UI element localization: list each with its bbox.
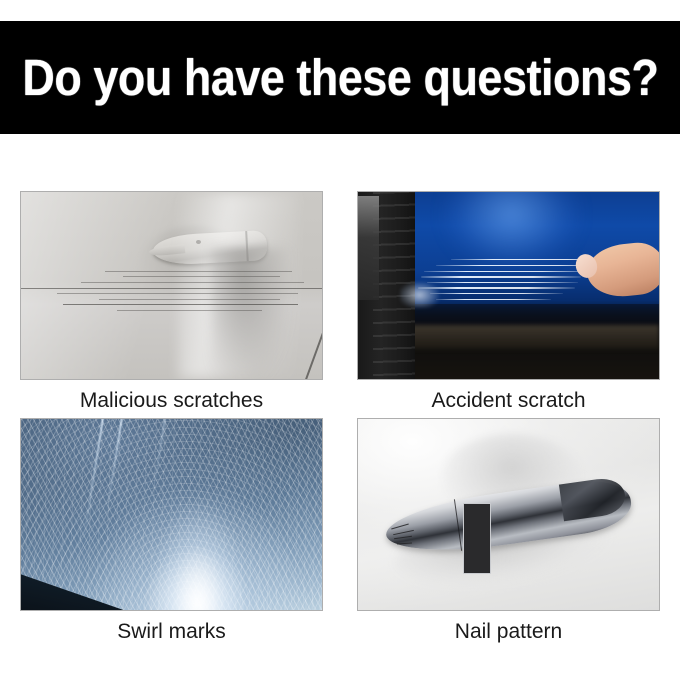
scratch-line — [117, 310, 261, 311]
card-caption: Swirl marks — [20, 620, 323, 643]
scratch-streak — [427, 282, 578, 283]
card-caption: Accident scratch — [357, 389, 660, 412]
body-crease-line — [21, 288, 322, 289]
problem-image-grid: Malicious scratches Accident scratch — [0, 176, 680, 676]
card-caption: Malicious scratches — [20, 389, 323, 412]
card-accident-scratch[interactable]: Accident scratch — [357, 191, 660, 412]
scratch-streak — [421, 276, 581, 278]
scuff-mark — [400, 282, 439, 308]
nail-pattern-photo — [357, 418, 660, 611]
scratch-line — [81, 282, 304, 283]
scratch-line — [105, 271, 292, 272]
card-nail-pattern[interactable]: Nail pattern — [357, 418, 660, 643]
sun-glare — [147, 492, 249, 611]
swirl-marks-photo — [20, 418, 323, 611]
handle-dark-reflection — [559, 475, 628, 521]
card-caption: Nail pattern — [357, 620, 660, 643]
accident-scratch-photo — [357, 191, 660, 380]
scratch-streak — [430, 293, 562, 294]
scratch-streak — [418, 287, 575, 289]
scratch-line — [63, 304, 298, 305]
rocker-panel — [400, 325, 659, 349]
scratch-line — [99, 299, 280, 300]
handle-keyhole — [463, 503, 491, 574]
wheel-rim — [358, 196, 379, 301]
scratch-streak — [436, 299, 550, 300]
handle-seam — [454, 499, 463, 550]
scratch-streak — [424, 271, 593, 272]
header-banner: Do you have these questions? — [0, 21, 680, 134]
panel-shadow — [211, 248, 289, 379]
scratch-line — [123, 276, 280, 277]
page-title: Do you have these questions? — [22, 52, 658, 103]
card-swirl-marks[interactable]: Swirl marks — [20, 418, 323, 643]
scratch-line — [57, 293, 298, 294]
malicious-scratches-photo — [20, 191, 323, 380]
body-diagonal-line — [299, 285, 323, 380]
card-malicious-scratches[interactable]: Malicious scratches — [20, 191, 323, 412]
